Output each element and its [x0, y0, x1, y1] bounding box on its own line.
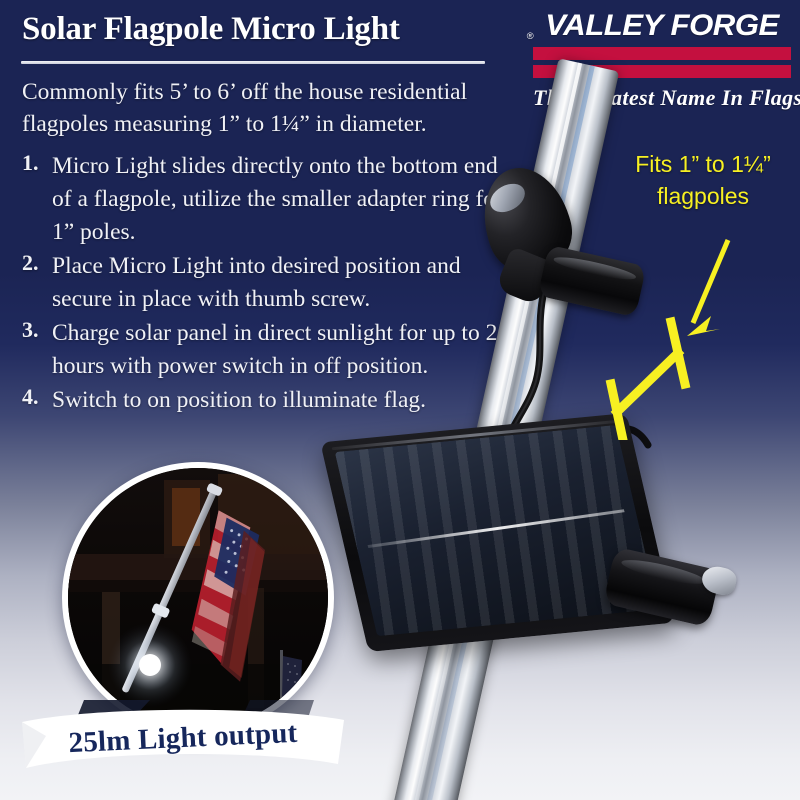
- panel-busbar: [368, 509, 625, 548]
- registered-trademark-icon: ®: [527, 20, 533, 52]
- clamp-sheen: [620, 555, 707, 588]
- list-item: 2. Place Micro Light into desired positi…: [22, 250, 512, 316]
- panel-housing: [320, 413, 675, 652]
- step-number: 2.: [22, 250, 39, 276]
- page-title: Solar Flagpole Micro Light: [22, 6, 492, 52]
- night-photo-inset: [62, 462, 334, 734]
- step-number: 3.: [22, 317, 39, 343]
- solar-panel: [320, 413, 675, 652]
- list-item: 4. Switch to on position to illuminate f…: [22, 384, 512, 417]
- step-number: 1.: [22, 150, 39, 176]
- instruction-list: 1. Micro Light slides directly onto the …: [22, 150, 512, 418]
- list-item: 1. Micro Light slides directly onto the …: [22, 150, 512, 249]
- list-item: 3. Charge solar panel in direct sunlight…: [22, 317, 512, 383]
- arrow-head-icon: [687, 316, 720, 336]
- ribbon-banner: 25lm Light output: [18, 700, 348, 784]
- product-infographic: Solar Flagpole Micro Light Commonly fits…: [0, 0, 800, 800]
- lamp-lens-icon: [485, 178, 529, 218]
- logo-bar-top: [533, 47, 791, 60]
- step-number: 4.: [22, 384, 39, 410]
- intro-paragraph: Commonly fits 5’ to 6’ off the house res…: [22, 76, 500, 140]
- panel-cells: [335, 425, 659, 636]
- arrow-shaft: [693, 240, 728, 323]
- logo-wordmark: ® VALLEY FORGE: [528, 10, 796, 42]
- title-divider: [21, 61, 485, 64]
- night-flag-scene: [68, 468, 328, 728]
- diameter-measure-annotation: [575, 140, 800, 440]
- logo-wordmark-text: VALLEY FORGE: [545, 9, 779, 42]
